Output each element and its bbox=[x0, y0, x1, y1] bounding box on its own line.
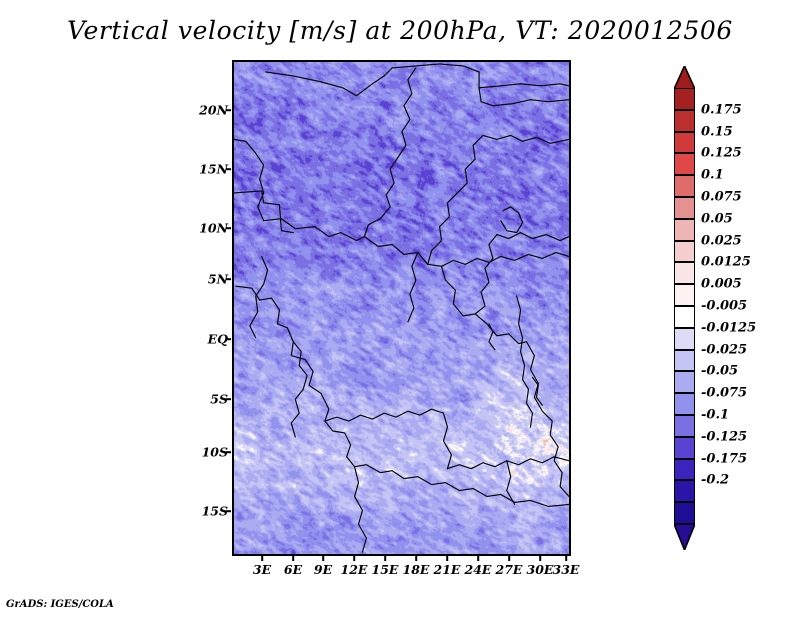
colorbar-tick-label-3: 0.1 bbox=[701, 168, 724, 183]
y-axis-label-20N: 20N bbox=[196, 103, 228, 118]
colorbar-tick-label-1: 0.15 bbox=[701, 124, 733, 139]
colorbar-band-1 bbox=[674, 110, 695, 132]
colorbar-tick-label-7: 0.0125 bbox=[701, 255, 751, 270]
colorbar-band-15 bbox=[674, 415, 695, 437]
coastline-paths bbox=[234, 64, 569, 552]
colorbar bbox=[674, 88, 695, 524]
colorbar-band-10 bbox=[674, 306, 695, 328]
colorbar-band-11 bbox=[674, 328, 695, 350]
x-tick-9E bbox=[322, 556, 324, 561]
x-tick-33E bbox=[565, 556, 567, 561]
colorbar-band-5 bbox=[674, 197, 695, 219]
colorbar-tick-label-14: -0.1 bbox=[701, 408, 729, 423]
colorbar-band-17 bbox=[674, 459, 695, 481]
colorbar-band-13 bbox=[674, 371, 695, 393]
colorbar-band-14 bbox=[674, 393, 695, 415]
x-axis-label-15E: 15E bbox=[372, 562, 399, 577]
colorbar-band-2 bbox=[674, 132, 695, 154]
colorbar-tick-label-11: -0.025 bbox=[701, 342, 747, 357]
colorbar-band-19 bbox=[674, 502, 695, 524]
x-axis-label-27E: 27E bbox=[496, 562, 523, 577]
y-axis-label-10N: 10N bbox=[196, 221, 228, 236]
x-axis-label-6E: 6E bbox=[284, 562, 302, 577]
y-tick-EQ bbox=[226, 338, 231, 340]
colorbar-arrow-bottom bbox=[674, 524, 695, 550]
map-plot-area bbox=[232, 60, 571, 556]
x-tick-3E bbox=[261, 556, 263, 561]
colorbar-band-12 bbox=[674, 350, 695, 372]
y-tick-15S bbox=[226, 510, 231, 512]
rift-lakes bbox=[489, 207, 542, 427]
colorbar-tick-label-16: -0.175 bbox=[701, 451, 747, 466]
x-axis-label-33E: 33E bbox=[553, 562, 580, 577]
colorbar-tick-label-5: 0.05 bbox=[701, 211, 733, 226]
x-axis-label-30E: 30E bbox=[527, 562, 554, 577]
colorbar-band-4 bbox=[674, 175, 695, 197]
y-axis-label-5S: 5S bbox=[196, 392, 228, 407]
country-borders-overlay bbox=[234, 62, 569, 554]
x-axis-label-3E: 3E bbox=[253, 562, 271, 577]
colorbar-tick-label-8: 0.005 bbox=[701, 277, 742, 292]
colorbar-band-9 bbox=[674, 284, 695, 306]
x-tick-27E bbox=[508, 556, 510, 561]
attribution-footer: GrADS: IGES/COLA bbox=[6, 599, 114, 610]
y-axis-label-15N: 15N bbox=[196, 162, 228, 177]
y-axis-label-EQ: EQ bbox=[196, 332, 228, 347]
x-tick-21E bbox=[446, 556, 448, 561]
colorbar-tick-label-4: 0.075 bbox=[701, 190, 742, 205]
x-axis-label-24E: 24E bbox=[465, 562, 492, 577]
colorbar-arrow-top bbox=[674, 66, 695, 89]
colorbar-band-18 bbox=[674, 480, 695, 502]
colorbar-tick-label-9: -0.005 bbox=[701, 299, 747, 314]
y-tick-5N bbox=[226, 278, 231, 280]
x-tick-12E bbox=[353, 556, 355, 561]
x-axis-label-21E: 21E bbox=[434, 562, 461, 577]
y-tick-15N bbox=[226, 168, 231, 170]
page-title: Vertical velocity [m/s] at 200hPa, VT: 2… bbox=[0, 16, 800, 45]
y-tick-5S bbox=[226, 398, 231, 400]
x-axis-label-9E: 9E bbox=[314, 562, 332, 577]
colorbar-tick-label-12: -0.05 bbox=[701, 364, 738, 379]
y-tick-10S bbox=[226, 451, 231, 453]
colorbar-band-3 bbox=[674, 153, 695, 175]
colorbar-band-6 bbox=[674, 219, 695, 241]
colorbar-tick-label-0: 0.175 bbox=[701, 102, 742, 117]
x-tick-6E bbox=[292, 556, 294, 561]
x-axis-label-18E: 18E bbox=[403, 562, 430, 577]
x-tick-15E bbox=[384, 556, 386, 561]
y-tick-20N bbox=[226, 109, 231, 111]
colorbar-tick-label-6: 0.025 bbox=[701, 233, 742, 248]
colorbar-band-7 bbox=[674, 241, 695, 263]
colorbar-band-8 bbox=[674, 262, 695, 284]
colorbar-tick-label-15: -0.125 bbox=[701, 429, 747, 444]
x-axis-label-12E: 12E bbox=[341, 562, 368, 577]
x-tick-18E bbox=[415, 556, 417, 561]
x-tick-24E bbox=[477, 556, 479, 561]
colorbar-tick-label-10: -0.0125 bbox=[701, 320, 756, 335]
y-axis-label-5N: 5N bbox=[196, 272, 228, 287]
colorbar-tick-label-2: 0.125 bbox=[701, 146, 742, 161]
y-axis-label-10S: 10S bbox=[194, 445, 228, 460]
y-axis-label-15S: 15S bbox=[194, 504, 228, 519]
colorbar-band-0 bbox=[674, 88, 695, 110]
y-tick-10N bbox=[226, 227, 231, 229]
colorbar-tick-label-13: -0.075 bbox=[701, 386, 747, 401]
x-tick-30E bbox=[539, 556, 541, 561]
colorbar-tick-label-17: -0.2 bbox=[701, 473, 729, 488]
colorbar-band-16 bbox=[674, 437, 695, 459]
